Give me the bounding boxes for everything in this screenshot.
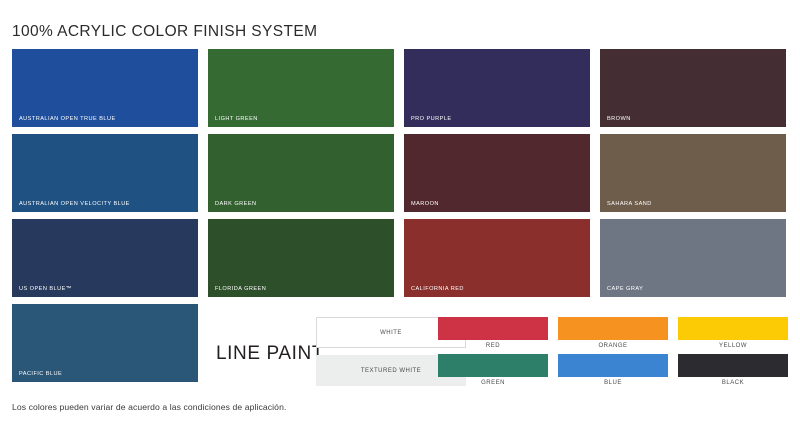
strip-swatch [438, 317, 548, 340]
strip-label: YELLOW [678, 340, 788, 351]
swatch-label: AUSTRALIAN OPEN TRUE BLUE [19, 116, 116, 122]
swatch-label: AUSTRALIAN OPEN VELOCITY BLUE [19, 201, 130, 207]
swatch-australian-open-true-blue[interactable]: AUSTRALIAN OPEN TRUE BLUE [12, 49, 198, 127]
strip-swatch [558, 317, 668, 340]
strip-label: BLACK [678, 377, 788, 388]
chip-label: TEXTURED WHITE [361, 368, 421, 374]
swatch-pacific-blue[interactable]: PACIFIC BLUE [12, 304, 198, 382]
swatch-maroon[interactable]: MAROON [404, 134, 590, 212]
footnote: Los colores pueden variar de acuerdo a l… [12, 402, 286, 412]
swatch-sahara-sand[interactable]: SAHARA SAND [600, 134, 786, 212]
strip-blue[interactable]: BLUE [558, 354, 668, 388]
swatch-florida-green[interactable]: FLORIDA GREEN [208, 219, 394, 297]
line-paint-title: LINE PAINT [216, 343, 324, 365]
strip-label: BLUE [558, 377, 668, 388]
swatch-label: SAHARA SAND [607, 201, 652, 207]
swatch-row: AUSTRALIAN OPEN TRUE BLUE LIGHT GREEN PR… [12, 49, 788, 127]
strip-row: RED ORANGE YELLOW [438, 317, 788, 351]
line-paint-section: LINE PAINT WHITE TEXTURED WHITE RED ORAN… [208, 312, 788, 392]
swatch-label: CALIFORNIA RED [411, 286, 464, 292]
chip-label: WHITE [380, 330, 402, 336]
swatch-label: FLORIDA GREEN [215, 286, 266, 292]
strip-label: ORANGE [558, 340, 668, 351]
swatch-brown[interactable]: BROWN [600, 49, 786, 127]
strip-black[interactable]: BLACK [678, 354, 788, 388]
strip-swatch [678, 354, 788, 377]
swatch-label: US OPEN BLUE™ [19, 286, 72, 292]
swatch-row: US OPEN BLUE™ FLORIDA GREEN CALIFORNIA R… [12, 219, 788, 297]
color-finish-system-sheet: 100% ACRYLIC COLOR FINISH SYSTEM AUSTRAL… [0, 0, 800, 435]
swatch-label: PRO PURPLE [411, 116, 452, 122]
swatch-label: PACIFIC BLUE [19, 371, 62, 377]
swatch-us-open-blue[interactable]: US OPEN BLUE™ [12, 219, 198, 297]
strip-row: GREEN BLUE BLACK [438, 354, 788, 388]
swatch-label: BROWN [607, 116, 631, 122]
swatch-australian-open-velocity-blue[interactable]: AUSTRALIAN OPEN VELOCITY BLUE [12, 134, 198, 212]
page-title: 100% ACRYLIC COLOR FINISH SYSTEM [12, 23, 317, 41]
strip-green[interactable]: GREEN [438, 354, 548, 388]
swatch-dark-green[interactable]: DARK GREEN [208, 134, 394, 212]
strip-label: RED [438, 340, 548, 351]
strip-swatch [438, 354, 548, 377]
swatch-label: MAROON [411, 201, 439, 207]
swatch-row: AUSTRALIAN OPEN VELOCITY BLUE DARK GREEN… [12, 134, 788, 212]
strip-red[interactable]: RED [438, 317, 548, 351]
strip-label: GREEN [438, 377, 548, 388]
swatch-california-red[interactable]: CALIFORNIA RED [404, 219, 590, 297]
swatch-light-green[interactable]: LIGHT GREEN [208, 49, 394, 127]
swatch-label: LIGHT GREEN [215, 116, 258, 122]
strip-swatch [558, 354, 668, 377]
swatch-label: CAPE GRAY [607, 286, 643, 292]
strip-orange[interactable]: ORANGE [558, 317, 668, 351]
strip-swatch [678, 317, 788, 340]
line-paint-color-strips: RED ORANGE YELLOW GREEN BLUE [438, 317, 788, 391]
swatch-cape-gray[interactable]: CAPE GRAY [600, 219, 786, 297]
swatch-pro-purple[interactable]: PRO PURPLE [404, 49, 590, 127]
swatch-label: DARK GREEN [215, 201, 257, 207]
strip-yellow[interactable]: YELLOW [678, 317, 788, 351]
